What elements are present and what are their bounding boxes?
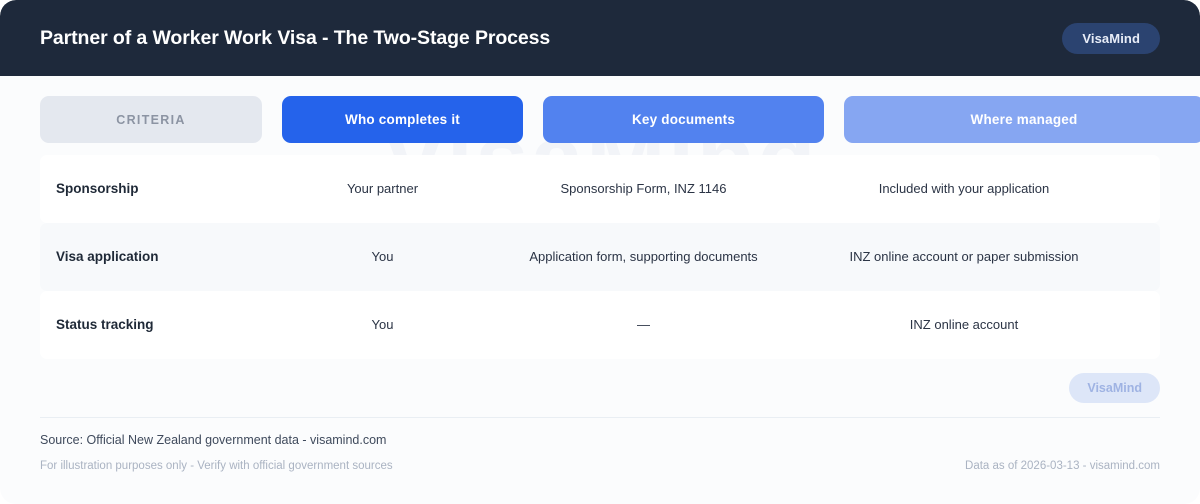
- cell-who-completes-it: Your partner: [262, 179, 503, 199]
- page-footer: VisaMind Source: Official New Zealand go…: [0, 359, 1200, 472]
- cell-criteria: Sponsorship: [40, 179, 262, 199]
- footer-brand-badge: VisaMind: [1069, 373, 1160, 403]
- footer-bottom-row: For illustration purposes only - Verify …: [40, 460, 1160, 472]
- cell-key-documents: —: [503, 315, 784, 335]
- infographic-page: VisaMind Partner of a Worker Work Visa -…: [0, 0, 1200, 504]
- cell-where-managed: INZ online account: [784, 315, 1144, 335]
- cell-key-documents: Application form, supporting documents: [503, 247, 784, 267]
- cell-where-managed: INZ online account or paper submission: [784, 247, 1144, 267]
- table-container: CRITERIA Who completes it Key documents …: [0, 76, 1200, 359]
- table-row[interactable]: Status tracking You — INZ online account: [40, 291, 1160, 359]
- page-title: Partner of a Worker Work Visa - The Two-…: [40, 27, 550, 50]
- footer-disclaimer: For illustration purposes only - Verify …: [40, 460, 393, 472]
- footer-divider: [40, 417, 1160, 418]
- column-header-criteria[interactable]: CRITERIA: [40, 96, 262, 143]
- cell-criteria: Status tracking: [40, 315, 262, 335]
- cell-key-documents: Sponsorship Form, INZ 1146: [503, 179, 784, 199]
- page-header: Partner of a Worker Work Visa - The Two-…: [0, 0, 1200, 76]
- cell-who-completes-it: You: [262, 247, 503, 267]
- table-column-headers: CRITERIA Who completes it Key documents …: [40, 96, 1160, 143]
- footer-source-text: Source: Official New Zealand government …: [40, 433, 1160, 447]
- table-row[interactable]: Sponsorship Your partner Sponsorship For…: [40, 155, 1160, 223]
- footer-data-as-of: Data as of 2026-03-13 - visamind.com: [965, 460, 1160, 472]
- cell-who-completes-it: You: [262, 315, 503, 335]
- column-header-key-documents[interactable]: Key documents: [543, 96, 824, 143]
- column-header-where-managed[interactable]: Where managed: [844, 96, 1200, 143]
- cell-where-managed: Included with your application: [784, 179, 1144, 199]
- footer-badge-row: VisaMind: [40, 359, 1160, 417]
- table-rows: Sponsorship Your partner Sponsorship For…: [40, 155, 1160, 359]
- table-row[interactable]: Visa application You Application form, s…: [40, 223, 1160, 291]
- brand-badge: VisaMind: [1062, 23, 1160, 54]
- column-header-who-completes-it[interactable]: Who completes it: [282, 96, 523, 143]
- cell-criteria: Visa application: [40, 247, 262, 267]
